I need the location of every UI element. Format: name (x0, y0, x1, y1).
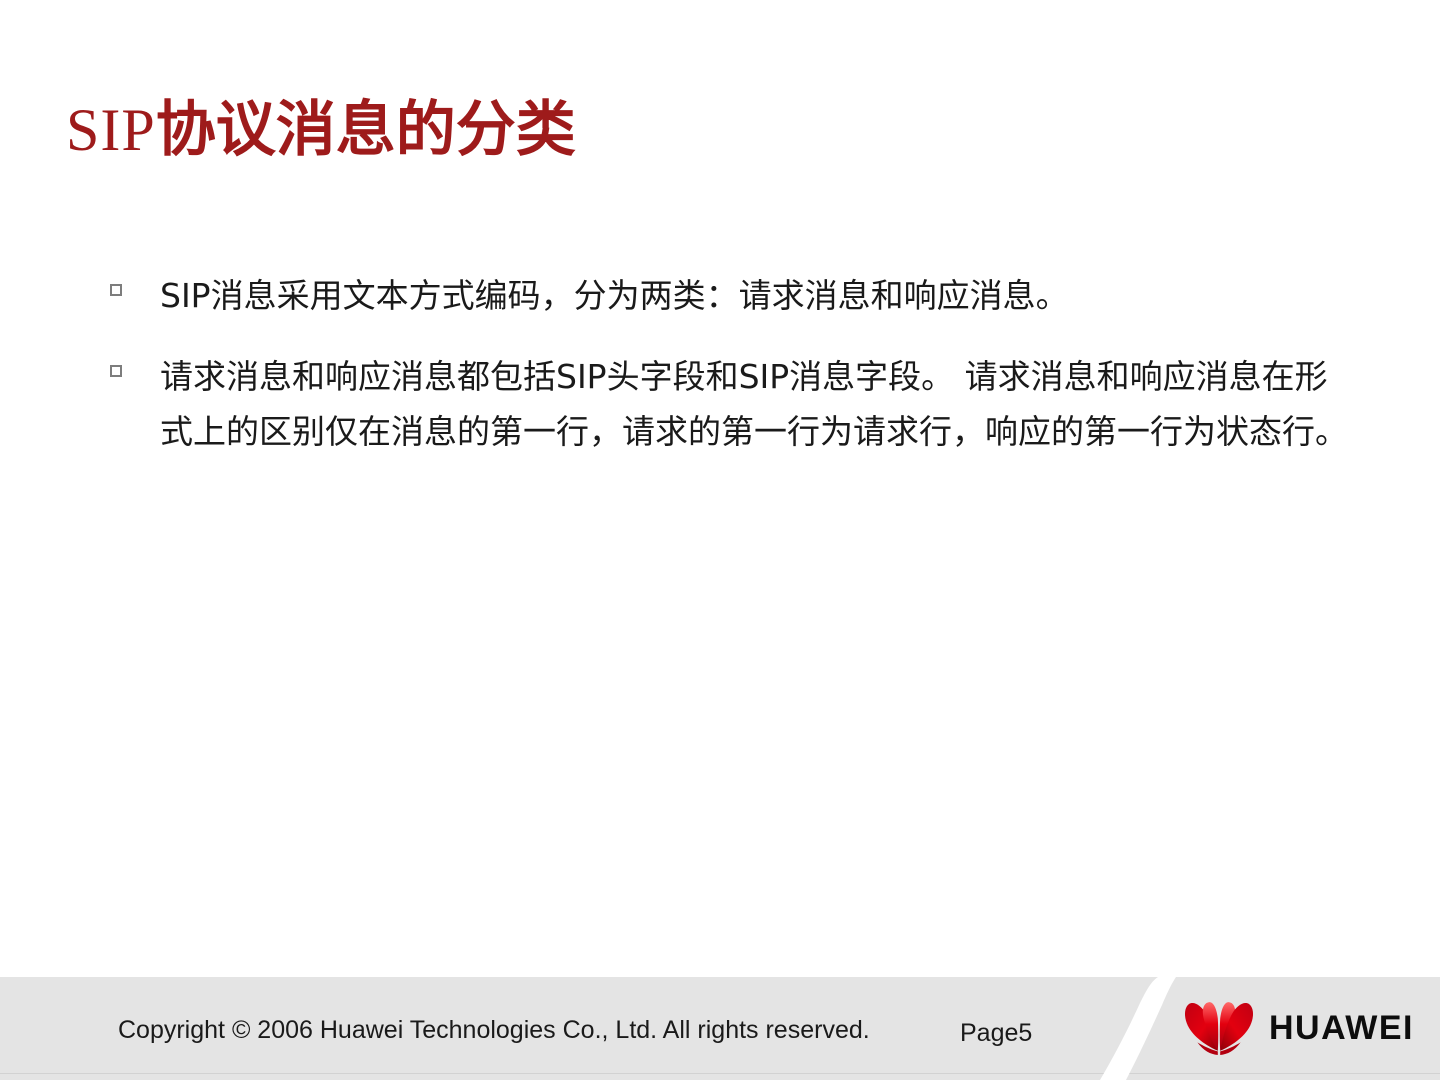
page-title-cjk: 协议消息的分类 (156, 95, 576, 165)
page-number: Page5 (960, 1018, 1032, 1048)
footer-divider (0, 1073, 1440, 1074)
page-title: SIP协议消息的分类 (66, 94, 576, 166)
huawei-wordmark: HUAWEI (1269, 1011, 1414, 1045)
slide-canvas: SIP协议消息的分类 SIP消息采用文本方式编码，分为两类：请求消息和响应消息。… (0, 0, 1440, 1080)
list-item: 请求消息和响应消息都包括SIP头字段和SIP消息字段。 请求消息和响应消息在形式… (110, 349, 1360, 459)
page-title-latin: SIP (66, 97, 156, 163)
body-content: SIP消息采用文本方式编码，分为两类：请求消息和响应消息。 请求消息和响应消息都… (110, 268, 1360, 485)
hollow-square-bullet-icon (110, 284, 122, 296)
list-item-text: SIP消息采用文本方式编码，分为两类：请求消息和响应消息。 (160, 268, 1360, 323)
copyright-text: Copyright © 2006 Huawei Technologies Co.… (118, 1015, 870, 1045)
hollow-square-bullet-icon (110, 365, 122, 377)
list-item: SIP消息采用文本方式编码，分为两类：请求消息和响应消息。 (110, 268, 1360, 323)
list-item-text: 请求消息和响应消息都包括SIP头字段和SIP消息字段。 请求消息和响应消息在形式… (160, 349, 1360, 459)
huawei-logo: HUAWEI (1183, 995, 1413, 1061)
huawei-flower-mark-icon (1183, 998, 1255, 1058)
